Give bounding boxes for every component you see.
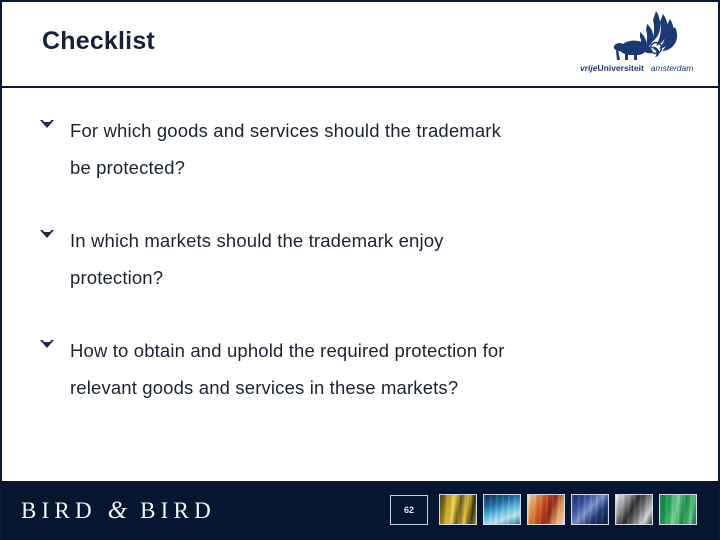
slide-body: For which goods and services should the …: [2, 92, 718, 477]
firm-word-2: BIRD: [140, 498, 216, 523]
thumbnail-texture: [440, 495, 476, 524]
bullet-text: For which goods and services should the …: [70, 112, 686, 186]
vu-word-vrije: vrije: [580, 63, 598, 73]
bullet-line-2: protection?: [70, 267, 163, 288]
vrije-universiteit-amsterdam-logo: vrijeUniversiteitamsterdam: [580, 10, 700, 82]
bullet-line-1: How to obtain and uphold the required pr…: [70, 340, 505, 361]
page-title: Checklist: [42, 29, 155, 54]
bullet-list: For which goods and services should the …: [36, 112, 686, 442]
ampersand-glyph: &: [108, 497, 129, 524]
thumbnail-texture: [528, 495, 564, 524]
chevron-down-icon: [39, 229, 55, 241]
bullet-line-1: For which goods and services should the …: [70, 120, 501, 141]
thumbnail-texture: [616, 495, 652, 524]
thumbnail-cyan-water: [483, 494, 521, 525]
thumbnail-grayscale-crowd: [615, 494, 653, 525]
thumbnail-green-dna: [659, 494, 697, 525]
bird-and-bird-logo: BIRD & BIRD: [21, 497, 216, 525]
presentation-slide: Checklist: [0, 0, 720, 540]
griffin-icon: [606, 10, 680, 64]
bullet-line-2: be protected?: [70, 157, 185, 178]
list-item: In which markets should the trademark en…: [36, 222, 686, 296]
footer-thumbnail-strip: [439, 494, 697, 525]
firm-word-1: BIRD: [21, 498, 97, 523]
thumbnail-texture: [484, 495, 520, 524]
list-item: How to obtain and uphold the required pr…: [36, 332, 686, 406]
bullet-line-2: relevant goods and services in these mar…: [70, 377, 458, 398]
thumbnail-texture: [572, 495, 608, 524]
thumbnail-blue-people: [571, 494, 609, 525]
bullet-line-1: In which markets should the trademark en…: [70, 230, 444, 251]
vu-word-universiteit: Universiteit: [598, 63, 644, 73]
slide-header: Checklist: [2, 2, 718, 86]
chevron-down-icon: [39, 119, 55, 131]
bullet-text: How to obtain and uphold the required pr…: [70, 332, 686, 406]
bullet-text: In which markets should the trademark en…: [70, 222, 686, 296]
vu-word-amsterdam: amsterdam: [651, 63, 694, 73]
page-number: 62: [404, 505, 414, 515]
chevron-down-icon: [39, 339, 55, 351]
thumbnail-orange-transport: [527, 494, 565, 525]
vu-wordmark: vrijeUniversiteitamsterdam: [580, 63, 700, 73]
thumbnail-gold-interior: [439, 494, 477, 525]
page-number-box: 62: [390, 495, 428, 525]
header-divider: [2, 86, 718, 88]
list-item: For which goods and services should the …: [36, 112, 686, 186]
thumbnail-texture: [660, 495, 696, 524]
